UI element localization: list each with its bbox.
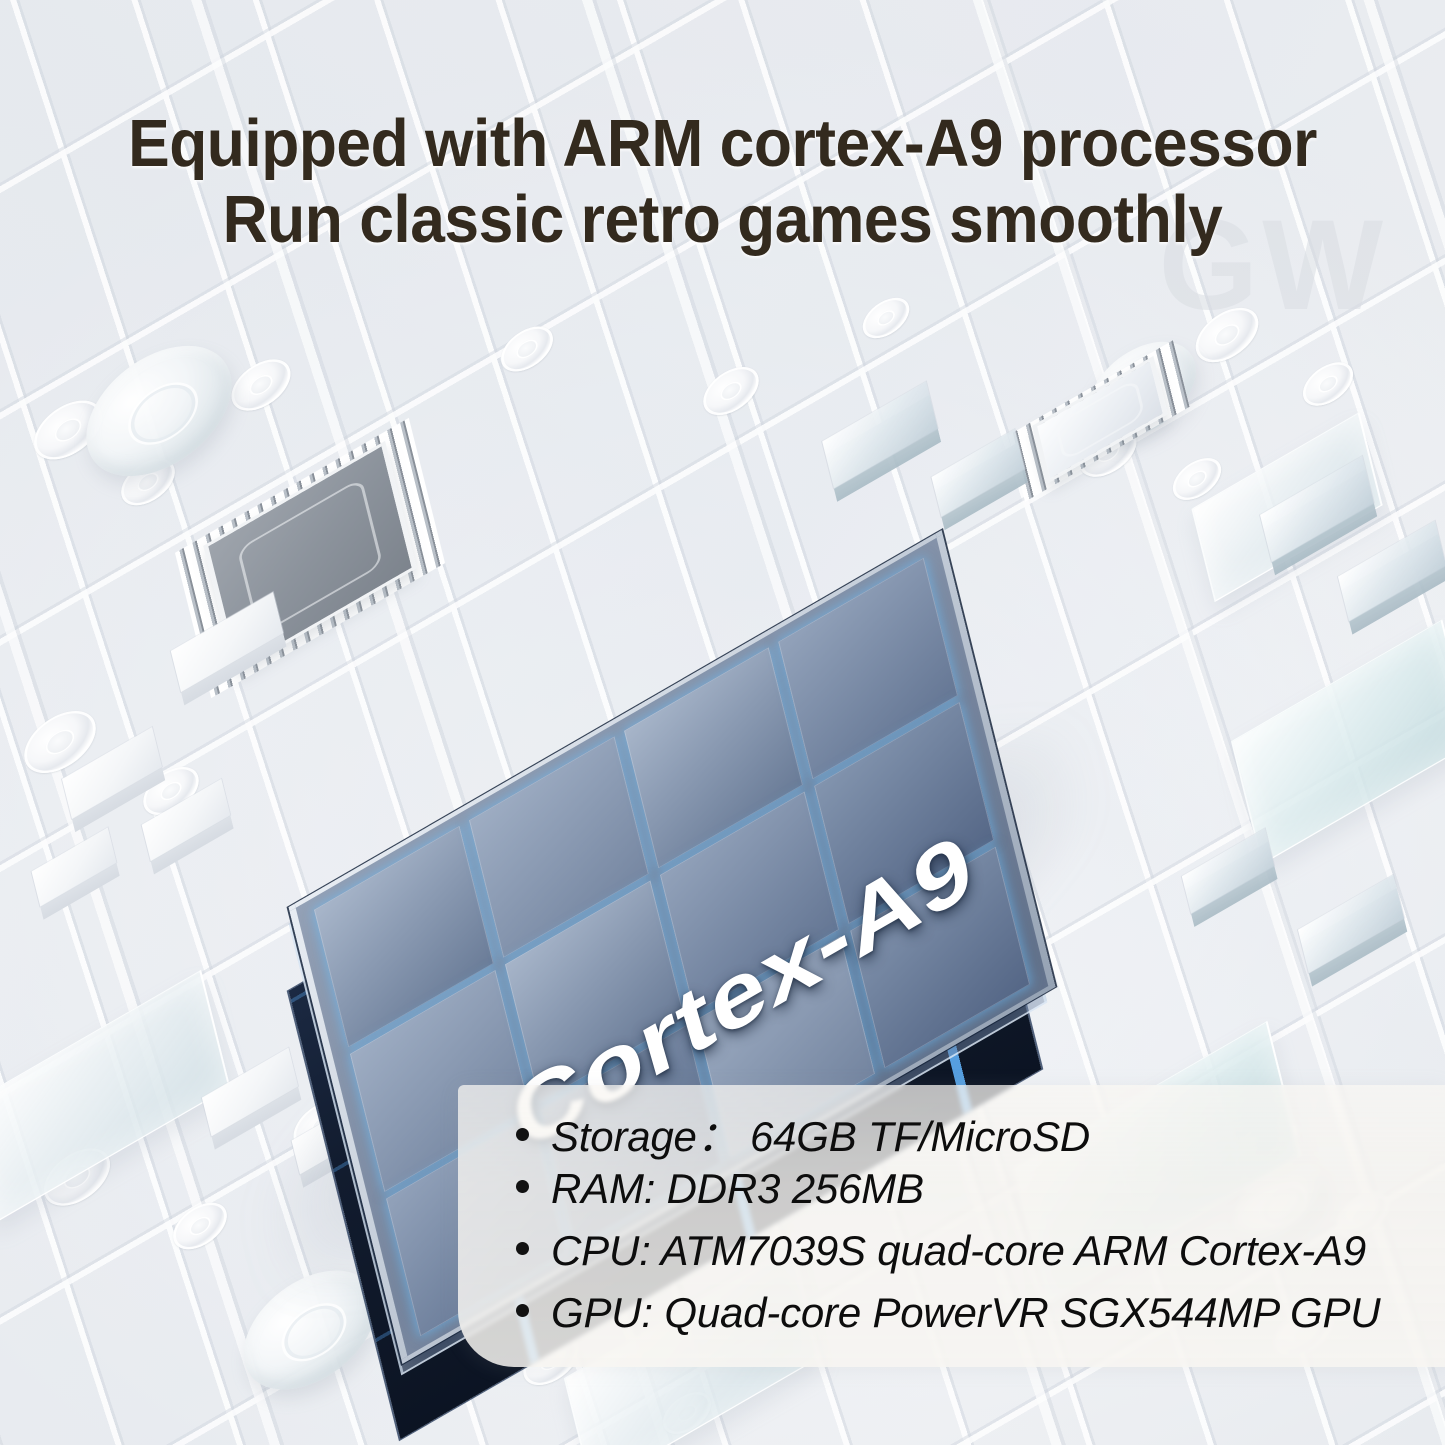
bullet-icon [516,1304,529,1317]
via-pad [1298,353,1359,414]
spec-text: RAM: DDR3 256MB [551,1165,924,1213]
via-pad [168,1193,233,1258]
via-pad [496,317,559,380]
bullet-icon [516,1180,529,1193]
headline-block: Equipped with ARM cortex-A9 processor Ru… [0,106,1445,257]
spec-text: GPU: Quad-core PowerVR SGX544MP GPU [551,1289,1380,1337]
spec-text: Storage： 64GB TF/MicroSD [551,1103,1090,1164]
via-pad [697,357,764,425]
bullet-icon [516,1128,529,1141]
product-feature-image: GW Equipped with ARM cortex-A9 processor… [0,0,1445,1445]
via-pad [858,290,914,347]
via-pad [225,349,296,421]
smd-block-component [1296,888,1406,960]
spec-text: CPU: ATM7039S quad-core ARM Cortex-A9 [551,1227,1366,1275]
specifications-list: Storage： 64GB TF/MicroSD RAM: DDR3 256MB… [458,1103,1445,1351]
spec-item-gpu: GPU: Quad-core PowerVR SGX544MP GPU [516,1289,1445,1351]
processor-chip: Cortex-A9 [185,470,1195,1160]
spec-item-ram: RAM: DDR3 256MB [516,1165,1445,1227]
specifications-panel: Storage： 64GB TF/MicroSD RAM: DDR3 256MB… [458,1085,1445,1367]
ic-package-body [1032,356,1168,484]
bullet-icon [516,1242,529,1255]
spec-item-storage: Storage： 64GB TF/MicroSD [516,1103,1445,1165]
smd-block-component [30,838,118,896]
spec-item-cpu: CPU: ATM7039S quad-core ARM Cortex-A9 [516,1227,1445,1289]
smd-block-component [1336,534,1445,608]
ic-package-component [1030,372,1170,468]
headline-line-1: Equipped with ARM cortex-A9 processor [51,106,1395,182]
headline-line-2: Run classic retro games smoothly [51,182,1395,258]
smd-block-component [820,396,940,474]
